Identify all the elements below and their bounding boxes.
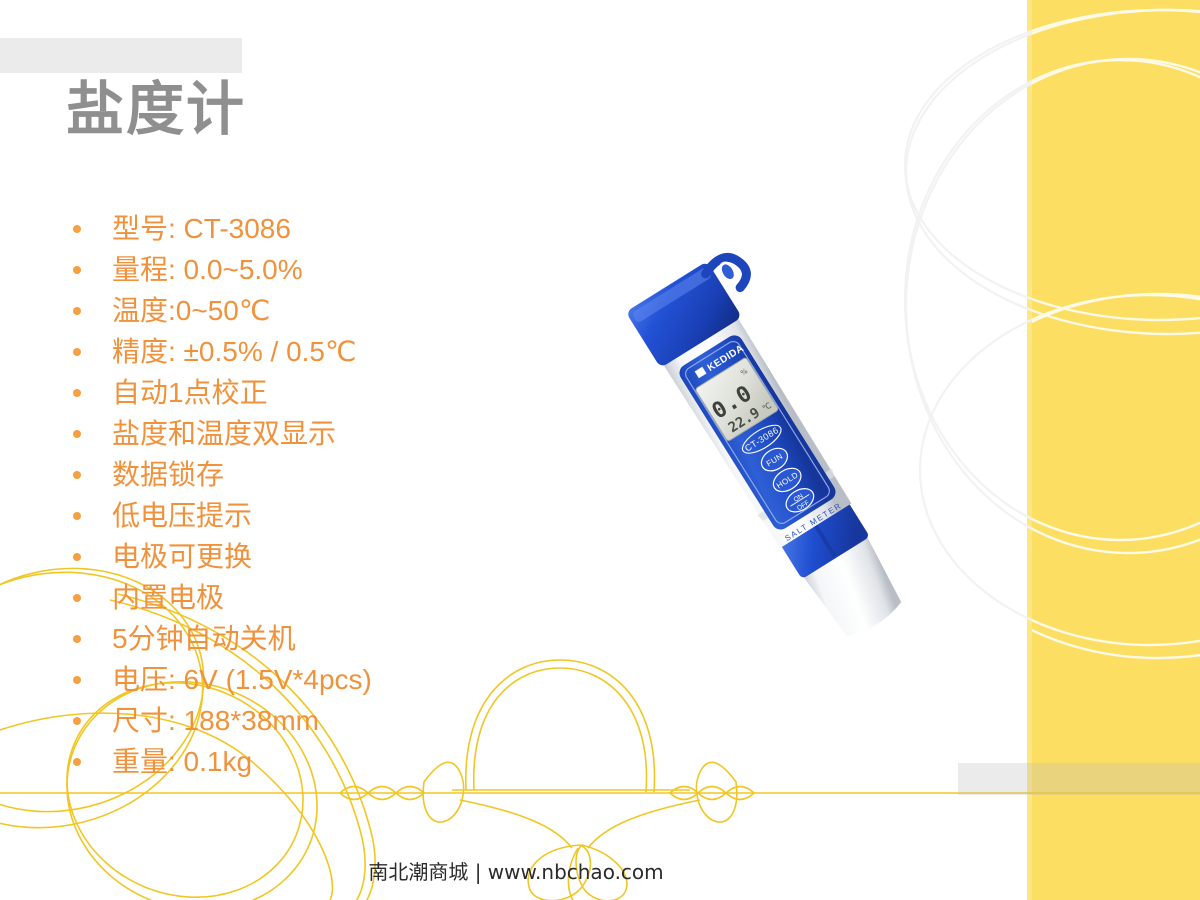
list-item-label: 量程: 0.0~5.0% bbox=[112, 254, 303, 285]
bullet-icon bbox=[73, 758, 81, 766]
bullet-icon bbox=[73, 225, 81, 233]
page-title: 盐度计 bbox=[66, 78, 246, 142]
bottom-right-accent-bar bbox=[958, 763, 1200, 795]
list-item-label: 型号: CT-3086 bbox=[112, 213, 291, 244]
list-item-label: 5分钟自动关机 bbox=[112, 623, 296, 654]
bullet-icon bbox=[73, 348, 81, 356]
list-item-label: 低电压提示 bbox=[112, 500, 252, 531]
list-item: 尺寸: 188*38mm bbox=[66, 700, 626, 741]
bullet-icon bbox=[73, 430, 81, 438]
bullet-icon bbox=[73, 512, 81, 520]
list-item-label: 内置电极 bbox=[112, 582, 224, 613]
list-item-label: 温度:0~50℃ bbox=[112, 295, 270, 326]
bullet-icon bbox=[73, 553, 81, 561]
list-item-label: 盐度和温度双显示 bbox=[112, 418, 336, 449]
bullet-icon bbox=[73, 266, 81, 274]
footer-text: 南北潮商城 | www.nbchao.com bbox=[0, 856, 1032, 885]
list-item-label: 数据锁存 bbox=[112, 459, 224, 490]
list-item-label: 电压: 6V (1.5V*4pcs) bbox=[112, 664, 372, 695]
title-accent-bar bbox=[0, 38, 242, 73]
bullet-icon bbox=[73, 717, 81, 725]
list-item: 重量: 0.1kg bbox=[66, 741, 626, 782]
bullet-icon bbox=[73, 307, 81, 315]
product-illustration: KEDIDA % 0.0 22.9 ℃ CT-3086 FUN HOLD bbox=[540, 250, 1000, 670]
bullet-icon bbox=[73, 471, 81, 479]
list-item-label: 重量: 0.1kg bbox=[112, 746, 252, 777]
list-item-label: 电极可更换 bbox=[112, 541, 252, 572]
product-image-salinity-meter: KEDIDA % 0.0 22.9 ℃ CT-3086 FUN HOLD bbox=[540, 250, 1000, 670]
list-item-label: 尺寸: 188*38mm bbox=[112, 705, 319, 736]
bullet-icon bbox=[73, 635, 81, 643]
list-item-label: 精度: ±0.5% / 0.5℃ bbox=[112, 336, 356, 367]
bullet-icon bbox=[73, 594, 81, 602]
slide-canvas: 盐度计 型号: CT-3086 量程: 0.0~5.0% 温度:0~50℃ 精度… bbox=[0, 0, 1200, 900]
bullet-icon bbox=[73, 389, 81, 397]
list-item: 型号: CT-3086 bbox=[66, 208, 626, 249]
bullet-icon bbox=[73, 676, 81, 684]
list-item-label: 自动1点校正 bbox=[112, 377, 268, 408]
